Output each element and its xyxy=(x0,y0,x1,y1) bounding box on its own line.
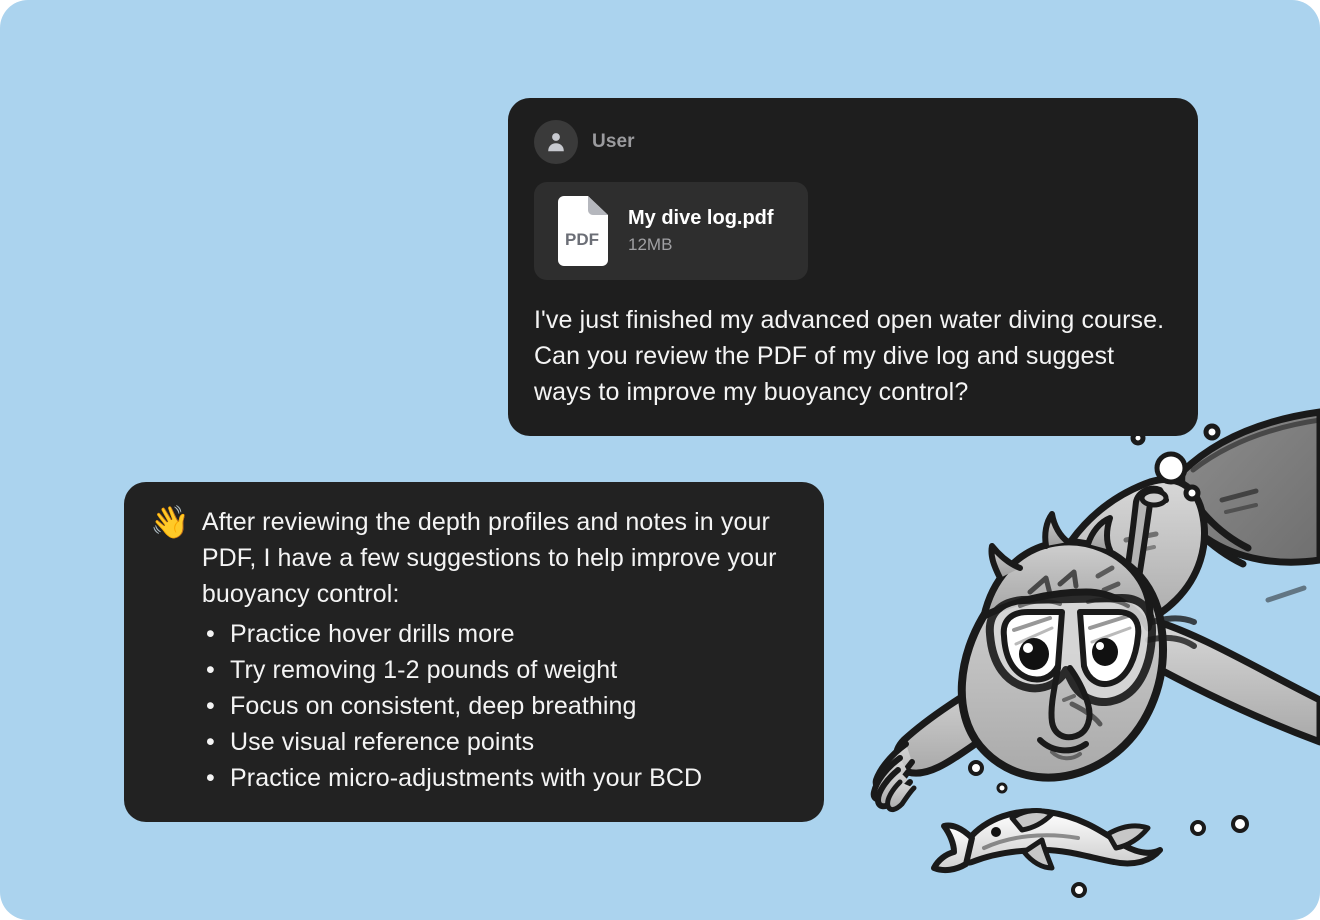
waving-hand-emoji: 👋 xyxy=(150,504,190,540)
suggestion-list: Practice hover drills more Try removing … xyxy=(150,616,798,796)
file-attachment-card[interactable]: PDF My dive log.pdf 12MB xyxy=(534,182,808,280)
file-size: 12MB xyxy=(628,236,774,255)
file-name: My dive log.pdf xyxy=(628,207,774,229)
screenshot-canvas: User PDF My dive log.pdf 12MB I've just … xyxy=(0,0,1320,920)
user-message-bubble: User PDF My dive log.pdf 12MB I've just … xyxy=(508,98,1198,436)
user-header: User xyxy=(534,120,1172,164)
file-meta: My dive log.pdf 12MB xyxy=(628,207,774,255)
pdf-file-icon: PDF xyxy=(552,196,608,266)
list-item: Try removing 1-2 pounds of weight xyxy=(206,652,798,688)
list-item: Practice micro-adjustments with your BCD xyxy=(206,760,798,796)
list-item: Focus on consistent, deep breathing xyxy=(206,688,798,724)
svg-text:PDF: PDF xyxy=(565,230,599,249)
user-message-text: I've just finished my advanced open wate… xyxy=(534,302,1172,410)
assistant-intro-row: 👋 After reviewing the depth profiles and… xyxy=(150,504,798,612)
person-avatar-icon xyxy=(534,120,578,164)
list-item: Use visual reference points xyxy=(206,724,798,760)
assistant-intro-text: After reviewing the depth profiles and n… xyxy=(202,504,798,612)
sender-label: User xyxy=(592,131,635,153)
assistant-message-bubble: 👋 After reviewing the depth profiles and… xyxy=(124,482,824,822)
list-item: Practice hover drills more xyxy=(206,616,798,652)
